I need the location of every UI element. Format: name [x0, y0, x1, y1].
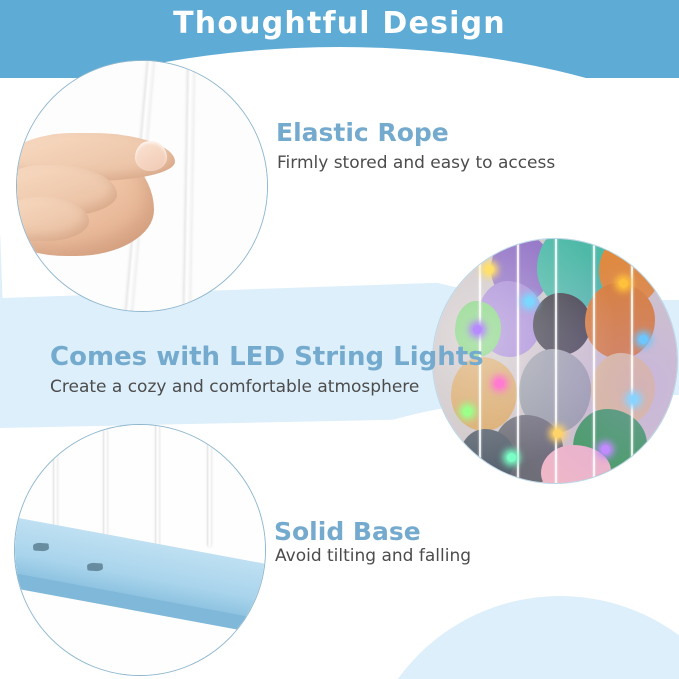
led-light: [639, 335, 648, 344]
feature-title-solid-base: Solid Base: [274, 517, 421, 546]
product-infographic: Thoughtful Design Elastic Rope Firmly st…: [0, 0, 679, 679]
feature-image-solid-base: [14, 424, 266, 676]
feature-title-elastic-rope: Elastic Rope: [276, 118, 449, 147]
fingernail: [135, 141, 167, 171]
solid-base-scene: [15, 425, 265, 675]
elastic-rope-line: [593, 239, 595, 483]
led-light: [601, 445, 610, 454]
elastic-rope-line: [631, 239, 633, 483]
led-light: [553, 429, 562, 438]
led-light: [463, 407, 472, 416]
page-title: Thoughtful Design: [0, 6, 679, 41]
elastic-rope-line: [517, 239, 519, 483]
led-light: [629, 395, 638, 404]
feature-title-led-string-lights: Comes with LED String Lights: [50, 342, 484, 372]
led-light: [495, 379, 504, 388]
feature-image-elastic-rope: [16, 60, 268, 312]
elastic-rope-strand: [182, 60, 194, 312]
feature-subtitle-led-string-lights: Create a cozy and comfortable atmosphere: [50, 377, 419, 397]
elastic-rope-line: [555, 239, 557, 483]
led-light: [619, 279, 628, 288]
led-light: [525, 297, 534, 306]
feature-subtitle-solid-base: Avoid tilting and falling: [275, 546, 471, 566]
support-rod: [207, 424, 212, 547]
led-light: [507, 453, 516, 462]
feature-subtitle-elastic-rope: Firmly stored and easy to access: [277, 153, 555, 173]
elastic-rope-scene: [17, 61, 267, 311]
support-rod: [155, 424, 160, 555]
base-decal: [33, 542, 50, 551]
base-decal: [87, 562, 104, 571]
led-light: [473, 325, 482, 334]
led-light: [485, 265, 494, 274]
